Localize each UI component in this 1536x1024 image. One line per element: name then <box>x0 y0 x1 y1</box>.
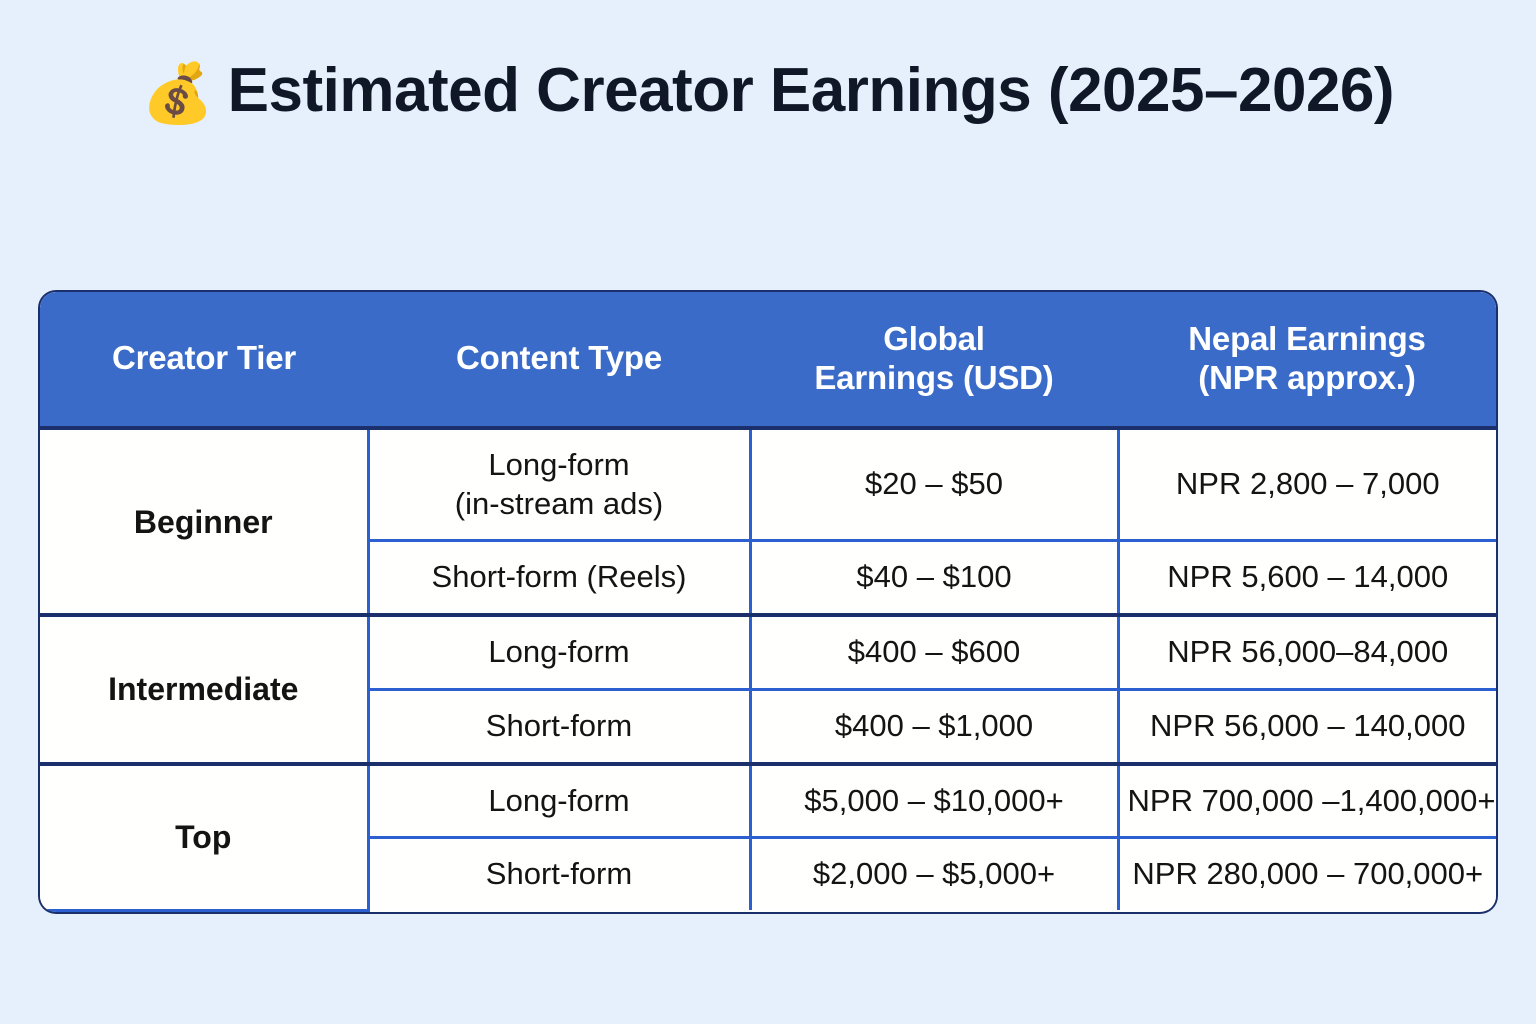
money-bag-icon: 💰 <box>142 61 214 126</box>
global-earnings-cell: $400 – $600 <box>750 615 1118 689</box>
nepal-earnings-cell: NPR 56,000 – 140,000 <box>1118 689 1496 763</box>
nepal-earnings-cell: NPR 5,600 – 14,000 <box>1118 541 1496 615</box>
title-block: 💰Estimated Creator Earnings (2025–2026) <box>0 0 1536 127</box>
page-title: 💰Estimated Creator Earnings (2025–2026) <box>90 56 1446 127</box>
tier-cell-beginner: Beginner <box>40 428 368 615</box>
page-title-text: Estimated Creator Earnings (2025–2026) <box>228 56 1394 125</box>
column-header-nepal-earnings: Nepal Earnings (NPR approx.) <box>1118 292 1496 428</box>
column-header-content-type: Content Type <box>368 292 750 428</box>
column-header-global-earnings: Global Earnings (USD) <box>750 292 1118 428</box>
nepal-earnings-cell: NPR 700,000 –1,400,000+ <box>1118 764 1496 838</box>
column-header-creator-tier: Creator Tier <box>40 292 368 428</box>
table-row: Intermediate Long-form $400 – $600 NPR 5… <box>40 615 1496 689</box>
content-type-cell: Short-form (Reels) <box>368 541 750 615</box>
earnings-table: Creator Tier Content Type Global Earning… <box>40 292 1496 912</box>
nepal-earnings-cell: NPR 2,800 – 7,000 <box>1118 428 1496 541</box>
global-earnings-cell: $2,000 – $5,000+ <box>750 838 1118 910</box>
tier-cell-intermediate: Intermediate <box>40 615 368 764</box>
content-type-cell: Short-form <box>368 689 750 763</box>
global-earnings-cell: $5,000 – $10,000+ <box>750 764 1118 838</box>
global-earnings-cell: $40 – $100 <box>750 541 1118 615</box>
table-header: Creator Tier Content Type Global Earning… <box>40 292 1496 428</box>
tier-cell-top: Top <box>40 764 368 911</box>
earnings-table-container: Creator Tier Content Type Global Earning… <box>40 292 1496 912</box>
table-body: Beginner Long-form (in-stream ads) $20 –… <box>40 428 1496 910</box>
content-type-cell: Long-form <box>368 764 750 838</box>
nepal-earnings-cell: NPR 56,000–84,000 <box>1118 615 1496 689</box>
earnings-infographic: 💰Estimated Creator Earnings (2025–2026) … <box>0 0 1536 1024</box>
content-type-cell: Long-form (in-stream ads) <box>368 428 750 541</box>
content-type-cell: Long-form <box>368 615 750 689</box>
content-type-cell: Short-form <box>368 838 750 910</box>
global-earnings-cell: $400 – $1,000 <box>750 689 1118 763</box>
table-row: Beginner Long-form (in-stream ads) $20 –… <box>40 428 1496 541</box>
nepal-earnings-cell: NPR 280,000 – 700,000+ <box>1118 838 1496 910</box>
global-earnings-cell: $20 – $50 <box>750 428 1118 541</box>
table-row: Top Long-form $5,000 – $10,000+ NPR 700,… <box>40 764 1496 838</box>
header-row: Creator Tier Content Type Global Earning… <box>40 292 1496 428</box>
